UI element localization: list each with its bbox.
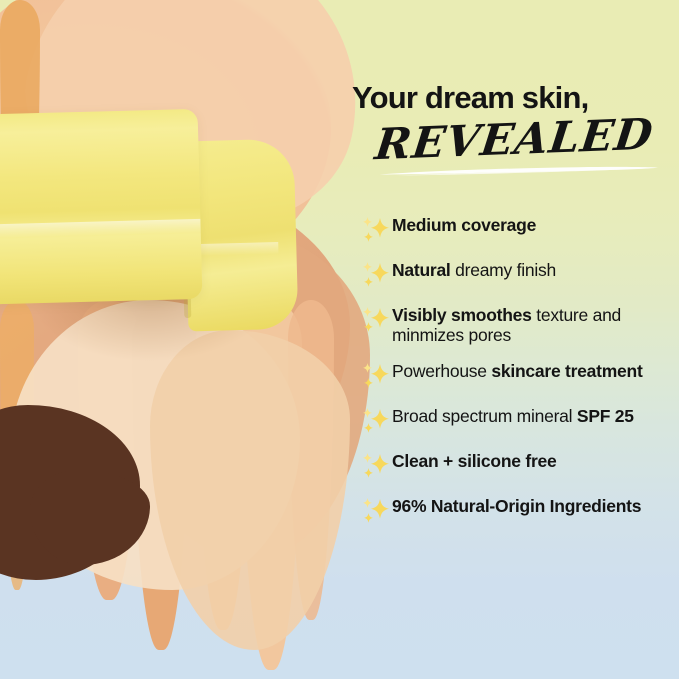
list-item: Natural dreamy finish: [358, 259, 676, 290]
list-item-segment: dreamy finish: [455, 260, 556, 280]
list-item-segment: SPF 25: [577, 406, 634, 426]
list-item-text: Powerhouse skincare treatment: [392, 360, 643, 381]
sparkles-icon: [358, 406, 392, 436]
product-tube-body: [0, 109, 202, 305]
list-item-segment: Natural: [392, 260, 455, 280]
list-item-segment: Powerhouse: [392, 361, 491, 381]
list-item-text: Natural dreamy finish: [392, 259, 556, 280]
list-item: Clean + silicone free: [358, 450, 676, 481]
list-item-segment: Visibly smoothes: [392, 305, 536, 325]
sparkles-icon: [358, 305, 392, 335]
sparkles-icon: [358, 496, 392, 526]
list-item-text: Visibly smoothes texture and minmizes po…: [392, 304, 676, 346]
headline-line-2: REVEALED: [373, 114, 656, 168]
list-item-segment: Broad spectrum mineral: [392, 406, 577, 426]
brush-underline-stroke: [378, 165, 660, 177]
list-item-text: Broad spectrum mineral SPF 25: [392, 405, 634, 426]
sparkles-icon: [358, 451, 392, 481]
headline-line-2-wrapper: REVEALED: [352, 119, 672, 173]
marketing-copy-panel: Your dream skin, REVEALED Medium coverag…: [352, 0, 679, 679]
list-item: 96% Natural-Origin Ingredients: [358, 495, 676, 526]
list-item: Visibly smoothes texture and minmizes po…: [358, 304, 676, 346]
product-marketing-image: Your dream skin, REVEALED Medium coverag…: [0, 0, 679, 679]
list-item-text: Clean + silicone free: [392, 450, 556, 471]
headline-block: Your dream skin, REVEALED: [352, 82, 672, 173]
list-item-segment: skincare treatment: [491, 361, 642, 381]
list-item-segment: Clean + silicone free: [392, 451, 556, 471]
list-item: Powerhouse skincare treatment: [358, 360, 676, 391]
list-item: Broad spectrum mineral SPF 25: [358, 405, 676, 436]
list-item-text: 96% Natural-Origin Ingredients: [392, 495, 641, 516]
headline-line-1: Your dream skin,: [352, 82, 672, 113]
sparkles-icon: [358, 260, 392, 290]
sparkles-icon: [358, 361, 392, 391]
sparkles-icon: [358, 215, 392, 245]
list-item-text: Medium coverage: [392, 214, 536, 235]
list-item: Medium coverage: [358, 214, 676, 245]
list-item-segment: 96% Natural-Origin Ingredients: [392, 496, 641, 516]
list-item-segment: Medium coverage: [392, 215, 536, 235]
feature-list: Medium coverage Natural dreamy finish: [358, 214, 676, 526]
